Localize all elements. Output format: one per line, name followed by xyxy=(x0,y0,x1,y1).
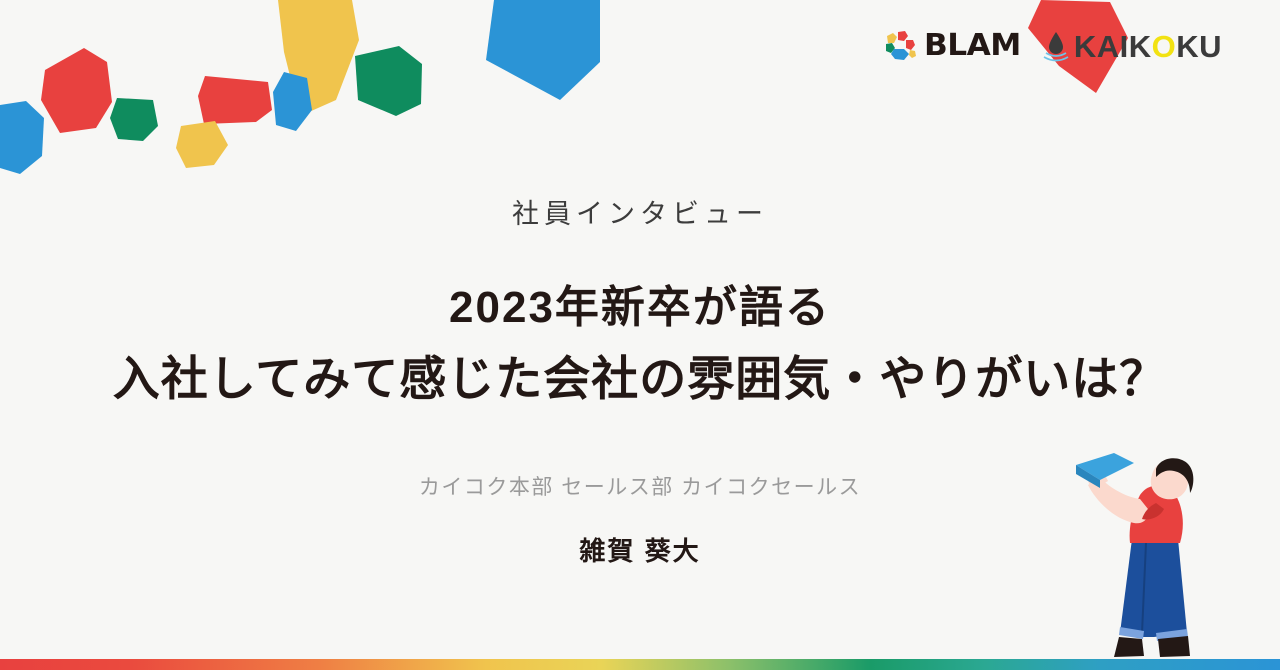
illustration-shoe-right xyxy=(1158,636,1190,657)
decor-polygon-green-1 xyxy=(355,46,422,116)
eyebrow-label: 社員インタビュー xyxy=(0,192,1280,231)
kaikoku-wordmark-part-2: KU xyxy=(1176,31,1222,62)
decor-polygon-red-2 xyxy=(41,48,112,133)
title-line-1: 2023年新卒が語る xyxy=(0,271,1280,335)
illustration-pants-cuff-right xyxy=(1156,629,1188,641)
blam-logo: BLAM xyxy=(884,30,1017,62)
title-line-2: 入社してみて感じた会社の雰囲気・やりがいは？ xyxy=(0,340,1280,409)
decor-polygon-blue-3 xyxy=(273,72,312,131)
department-label: カイコク本部 セールス部 カイコクセールス xyxy=(0,471,1280,501)
kaikoku-logo: KAIKOKU xyxy=(1043,30,1222,62)
kaikoku-wordmark-highlight: O xyxy=(1152,31,1177,62)
kaikoku-wordmark: KAIKOKU xyxy=(1074,31,1222,62)
water-drop-ripple-icon xyxy=(1043,30,1069,62)
illustration-pants-cuff-left xyxy=(1119,627,1144,639)
decor-polygon-yellow-1 xyxy=(278,0,359,116)
illustration-shirt-shadow xyxy=(1142,503,1164,520)
decor-polygon-red-3 xyxy=(198,76,272,124)
confetti-shapes xyxy=(0,0,1128,174)
bottom-gradient-bar xyxy=(0,659,1280,670)
blam-wordmark: BLAM xyxy=(924,31,1021,61)
decor-polygon-green-2 xyxy=(110,98,158,141)
logo-bar: BLAM KAIKOKU xyxy=(884,30,1222,62)
decor-polygon-blue-2 xyxy=(0,101,44,174)
person-name: 雑賀 葵大 xyxy=(0,531,1280,568)
kaikoku-wordmark-part-1: KAIK xyxy=(1074,31,1152,62)
decor-polygon-blue-1 xyxy=(486,0,600,100)
blam-cluster-icon xyxy=(884,30,918,62)
illustration-shoe-left xyxy=(1114,637,1144,657)
decor-polygon-yellow-2 xyxy=(176,121,228,168)
slide-canvas: BLAM KAIKOKU 社員インタビュー 2023年新卒が語る 入社してみて感… xyxy=(0,0,1280,670)
